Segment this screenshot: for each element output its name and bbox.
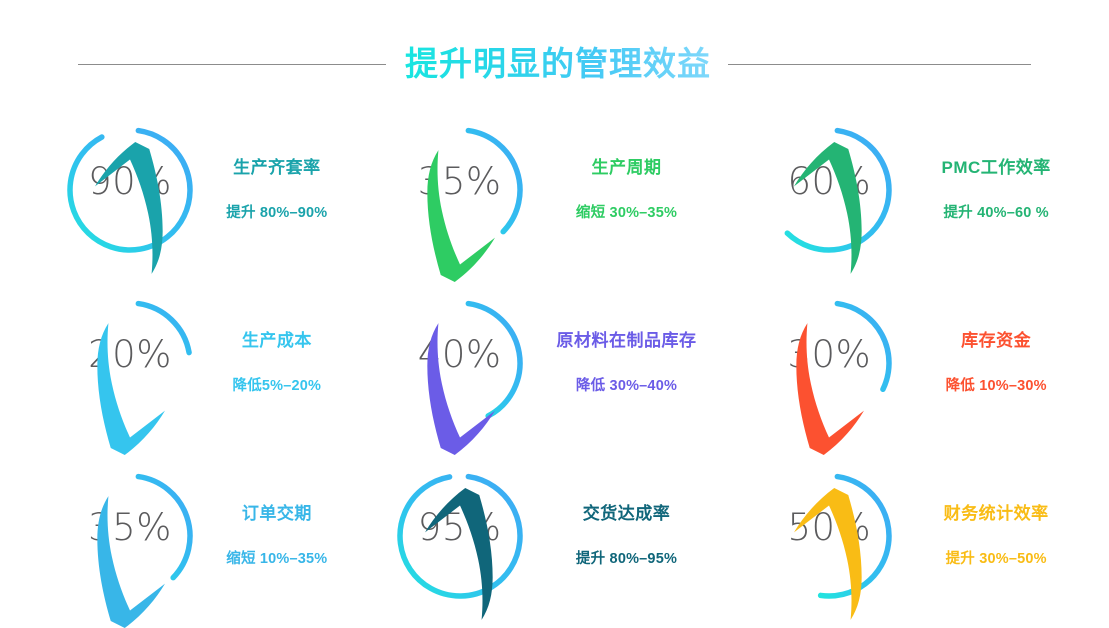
arrow-up-icon — [759, 200, 899, 224]
gauge-label: 生产齐套率 — [233, 157, 321, 179]
gauge-center: 90% — [60, 120, 200, 260]
gauge-cell[interactable]: 90%生产齐套率提升 80%–90% — [0, 103, 370, 276]
gauge-cell[interactable]: 20%生产成本降低5%–20% — [0, 276, 370, 449]
arrow-down-icon — [60, 546, 200, 570]
gauge-cell[interactable]: 35%生产周期缩短 30%–35% — [370, 103, 740, 276]
gauge-label: 生产成本 — [242, 330, 312, 352]
gauge-pmc-work-efficiency: 60% — [759, 120, 899, 260]
gauge-text-block: 财务统计效率提升 30%–50% — [913, 503, 1079, 569]
gauge-order-lead-time: 35% — [60, 466, 200, 606]
gauge-label: PMC工作效率 — [942, 157, 1051, 179]
gauge-cell[interactable]: 60%PMC工作效率提升 40%–60 % — [739, 103, 1109, 276]
gauge-center: 40% — [390, 293, 530, 433]
gauge-cell[interactable]: 40%原材料在制品库存降低 30%–40% — [370, 276, 740, 449]
gauge-sublabel: 提升 40%–60 % — [943, 203, 1048, 223]
gauge-sublabel: 缩短 10%–35% — [226, 549, 327, 569]
gauge-label: 财务统计效率 — [944, 503, 1049, 525]
arrow-down-icon — [759, 373, 899, 397]
gauge-text-block: 生产成本降低5%–20% — [214, 330, 340, 396]
gauge-sublabel: 缩短 30%–35% — [576, 203, 677, 223]
gauge-center: 35% — [390, 120, 530, 260]
arrow-up-icon — [390, 546, 530, 570]
title-rule-left — [78, 64, 386, 65]
page-title: 提升明显的管理效益 — [405, 41, 711, 87]
arrow-up-icon — [759, 546, 899, 570]
gauge-center: 35% — [60, 466, 200, 606]
page-header: 提升明显的管理效益 — [0, 38, 1109, 90]
gauge-raw-material-wip-inventory: 40% — [390, 293, 530, 433]
gauge-grid: 90%生产齐套率提升 80%–90%35%生产周期缩短 30%–35%60%PM… — [0, 103, 1109, 623]
gauge-sublabel: 降低 10%–30% — [946, 376, 1047, 396]
gauge-center: 30% — [759, 293, 899, 433]
gauge-delivery-achievement-rate: 95% — [390, 466, 530, 606]
gauge-text-block: 原材料在制品库存降低 30%–40% — [544, 330, 710, 396]
gauge-label: 原材料在制品库存 — [556, 330, 696, 352]
gauge-sublabel: 降低 30%–40% — [576, 376, 677, 396]
gauge-cell[interactable]: 30%库存资金降低 10%–30% — [739, 276, 1109, 449]
gauge-center: 95% — [390, 466, 530, 606]
gauge-production-kitting-rate: 90% — [60, 120, 200, 260]
gauge-sublabel: 提升 80%–95% — [576, 549, 677, 569]
gauge-text-block: 库存资金降低 10%–30% — [913, 330, 1079, 396]
gauge-cell[interactable]: 35%订单交期缩短 10%–35% — [0, 450, 370, 623]
gauge-center: 20% — [60, 293, 200, 433]
gauge-production-cycle: 35% — [390, 120, 530, 260]
gauge-center: 50% — [759, 466, 899, 606]
gauge-financial-statistics-efficiency: 50% — [759, 466, 899, 606]
gauge-label: 库存资金 — [961, 330, 1031, 352]
gauge-sublabel: 提升 80%–90% — [226, 203, 327, 223]
gauge-inventory-capital: 30% — [759, 293, 899, 433]
gauge-label: 订单交期 — [242, 503, 312, 525]
gauge-label: 生产周期 — [591, 157, 661, 179]
title-rule-right — [728, 64, 1031, 65]
arrow-down-icon — [60, 373, 200, 397]
arrow-down-icon — [390, 200, 530, 224]
gauge-cell[interactable]: 95%交货达成率提升 80%–95% — [370, 450, 740, 623]
gauge-cell[interactable]: 50%财务统计效率提升 30%–50% — [739, 450, 1109, 623]
arrow-down-icon — [390, 373, 530, 397]
arrow-up-icon — [60, 200, 200, 224]
gauge-production-cost: 20% — [60, 293, 200, 433]
gauge-text-block: 生产周期缩短 30%–35% — [544, 157, 710, 223]
gauge-text-block: PMC工作效率提升 40%–60 % — [913, 157, 1079, 223]
gauge-center: 60% — [759, 120, 899, 260]
gauge-text-block: 订单交期缩短 10%–35% — [214, 503, 340, 569]
gauge-sublabel: 降低5%–20% — [233, 376, 322, 396]
gauge-sublabel: 提升 30%–50% — [946, 549, 1047, 569]
gauge-label: 交货达成率 — [583, 503, 671, 525]
gauge-text-block: 交货达成率提升 80%–95% — [544, 503, 710, 569]
gauge-text-block: 生产齐套率提升 80%–90% — [214, 157, 340, 223]
